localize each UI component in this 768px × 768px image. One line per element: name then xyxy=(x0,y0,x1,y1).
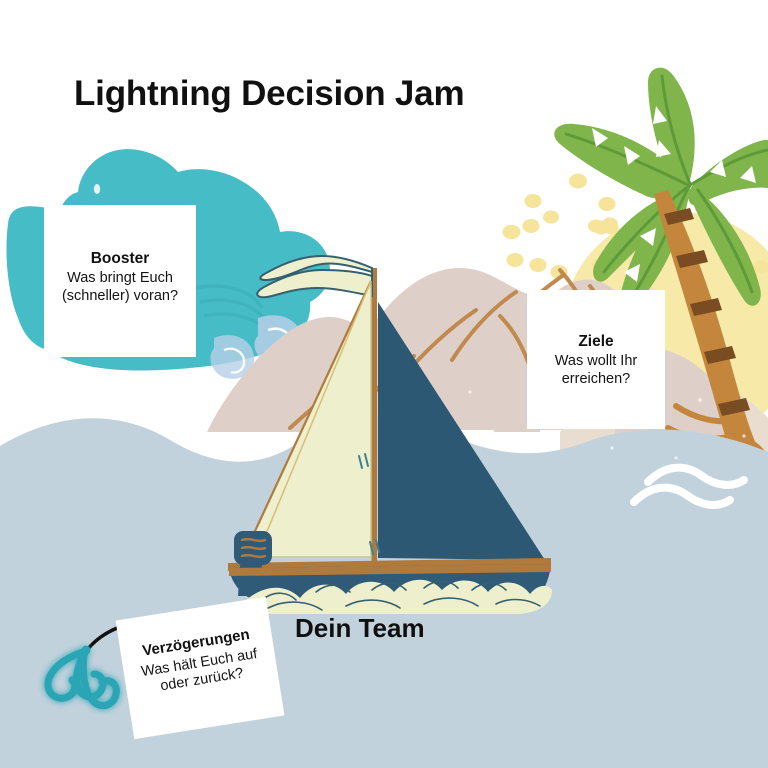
card-verzoegerungen[interactable]: Verzögerungen Was hält Euch auf oder zur… xyxy=(116,597,285,739)
mast xyxy=(372,268,378,564)
card-booster[interactable]: Booster Was bringt Euch (schneller) vora… xyxy=(44,205,196,357)
card-booster-body: Was bringt Euch (schneller) voran? xyxy=(62,270,178,305)
page-title: Lightning Decision Jam xyxy=(74,74,464,114)
card-ziele-title: Ziele xyxy=(578,332,613,351)
team-label: Dein Team xyxy=(295,613,425,644)
card-booster-title: Booster xyxy=(91,249,150,268)
card-ziele[interactable]: Ziele Was wollt Ihr erreichen? xyxy=(527,290,665,429)
card-ziele-body: Was wollt Ihr erreichen? xyxy=(555,353,637,388)
illustration-canvas: Lightning Decision Jam Dein Team Booster… xyxy=(0,0,768,768)
